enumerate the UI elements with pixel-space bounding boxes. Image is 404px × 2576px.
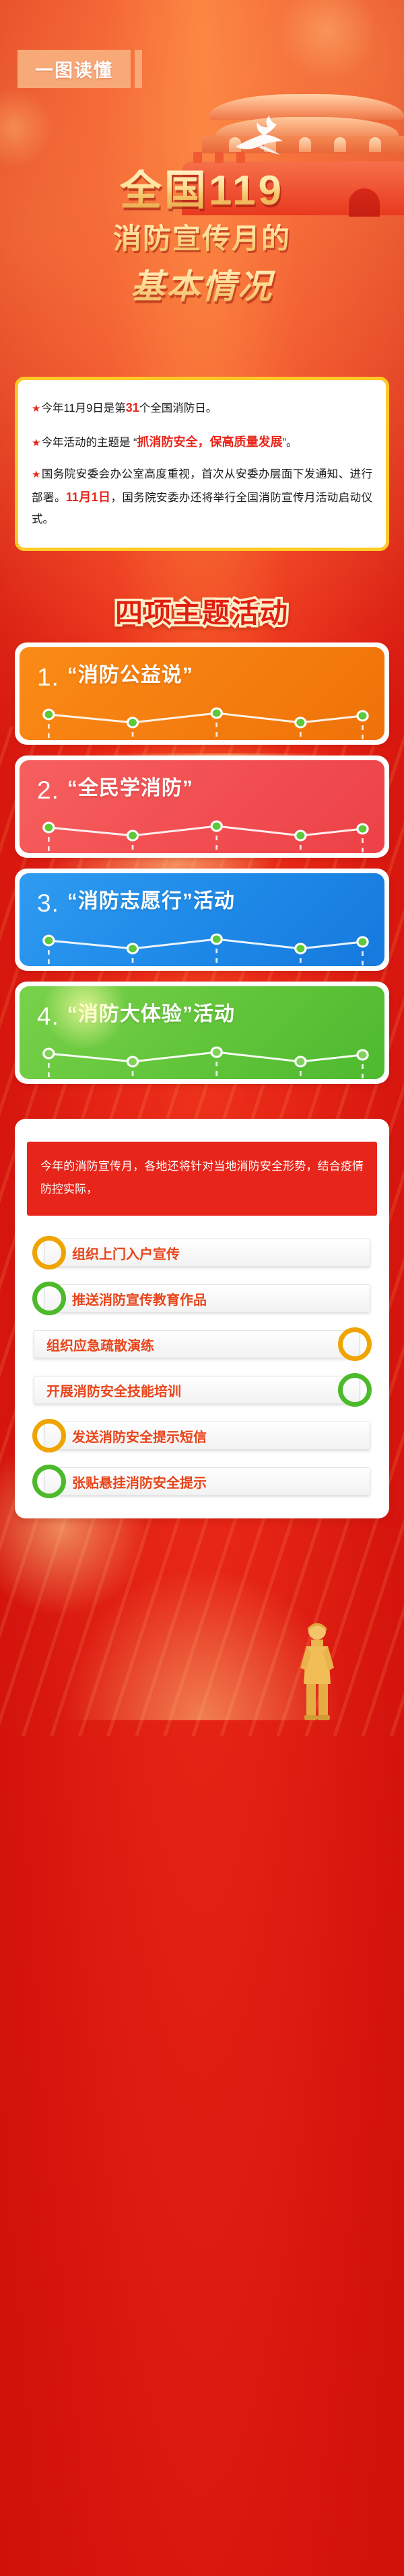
highlight-theme: 抓消防安全，保高质量发展	[137, 435, 283, 449]
badge-tick-decoration	[135, 50, 142, 88]
star-bullet-icon: ★	[32, 403, 40, 414]
measure-label: 组织应急疏散演练	[46, 1335, 154, 1354]
measure-item[interactable]: 组织上门入户宣传	[27, 1236, 377, 1269]
highlight-number: 31	[126, 401, 139, 414]
overview-text: 今年11月9日是第	[41, 402, 125, 414]
overview-text: 今年活动的主题是 “	[41, 437, 137, 449]
sparkline-decoration	[20, 702, 384, 740]
activity-card-list: 1. “消防公益说”	[0, 642, 404, 1084]
firefighter-figure-icon	[295, 1619, 339, 1720]
title-line-2: 消防宣传月的	[0, 216, 404, 257]
overview-paragraph: ★国务院安委会办公室高度重视，首次从安委办层面下发通知、进行部署。11月1日，国…	[32, 464, 372, 530]
ring-icon	[338, 1327, 372, 1361]
measures-note-text: 今年的消防宣传月，各地还将针对当地消防安全形势，结合疫情防控实际，	[40, 1155, 364, 1201]
activity-number: 4.	[37, 1004, 59, 1029]
measure-label: 发送消防安全提示短信	[72, 1426, 207, 1446]
ring-icon	[338, 1373, 372, 1407]
sparkline-decoration	[20, 928, 384, 966]
star-bullet-icon: ★	[32, 437, 40, 449]
activity-number: 3.	[37, 891, 59, 916]
title-line-3: 基本情况	[0, 260, 404, 308]
measure-label: 推送消防宣传教育作品	[72, 1289, 207, 1309]
activity-card[interactable]: 3. “消防志愿行”活动	[15, 869, 389, 971]
overview-section: ★今年11月9日是第31个全国消防日。 ★今年活动的主题是 “抓消防安全，保高质…	[0, 377, 404, 551]
measure-item[interactable]: 张贴悬挂消防安全提示	[27, 1465, 377, 1498]
overview-text: 个全国消防日。	[139, 402, 217, 414]
activity-label: “全民学消防”	[67, 778, 193, 799]
read-at-a-glance-badge: 一图读懂	[18, 50, 131, 88]
overview-card: ★今年11月9日是第31个全国消防日。 ★今年活动的主题是 “抓消防安全，保高质…	[15, 377, 389, 551]
activity-card[interactable]: 1. “消防公益说”	[15, 642, 389, 745]
activities-heading: 四项主题活动	[115, 590, 289, 630]
badge-label: 一图读懂	[35, 56, 113, 82]
dove-icon	[232, 114, 287, 156]
measures-section: 今年的消防宣传月，各地还将针对当地消防安全形势，结合疫情防控实际， 组织上门入户…	[0, 1119, 404, 1518]
activity-label: “消防公益说”	[67, 665, 193, 686]
measure-item[interactable]: 组织应急疏散演练	[27, 1327, 377, 1361]
activity-card[interactable]: 4. “消防大体验”活动	[15, 982, 389, 1084]
overview-paragraph: ★今年11月9日是第31个全国消防日。	[32, 396, 372, 420]
title-line-1: 全国119	[0, 170, 404, 212]
measure-item[interactable]: 发送消防安全提示短信	[27, 1419, 377, 1452]
highlight-date: 11月1日	[66, 490, 111, 504]
measure-label: 张贴悬挂消防安全提示	[72, 1472, 207, 1492]
measure-item[interactable]: 开展消防安全技能培训	[27, 1373, 377, 1407]
sparkline-decoration	[20, 1041, 384, 1079]
page-title: 全国119 消防宣传月的 基本情况	[0, 170, 404, 308]
poster-header: 一图读懂 全国119 消防宣传月的 基本情	[0, 0, 404, 377]
activities-banner: 四项主题活动	[0, 590, 404, 630]
measure-label: 组织上门入户宣传	[72, 1243, 180, 1263]
activity-number: 2.	[37, 778, 59, 803]
measure-label: 开展消防安全技能培训	[46, 1381, 181, 1400]
measure-item[interactable]: 推送消防宣传教育作品	[27, 1282, 377, 1315]
measures-panel: 今年的消防宣传月，各地还将针对当地消防安全形势，结合疫情防控实际， 组织上门入户…	[15, 1119, 389, 1518]
overview-paragraph: ★今年活动的主题是 “抓消防安全，保高质量发展”。	[32, 431, 372, 454]
overview-text: ”。	[283, 437, 298, 449]
star-bullet-icon: ★	[32, 469, 41, 480]
activity-number: 1.	[37, 665, 59, 690]
measures-note: 今年的消防宣传月，各地还将针对当地消防安全形势，结合疫情防控实际，	[27, 1142, 377, 1216]
sparkline-decoration	[20, 815, 384, 853]
activity-label: “消防志愿行”活动	[67, 891, 235, 912]
activity-card[interactable]: 2. “全民学消防”	[15, 756, 389, 858]
poster-footer	[0, 1518, 404, 1720]
